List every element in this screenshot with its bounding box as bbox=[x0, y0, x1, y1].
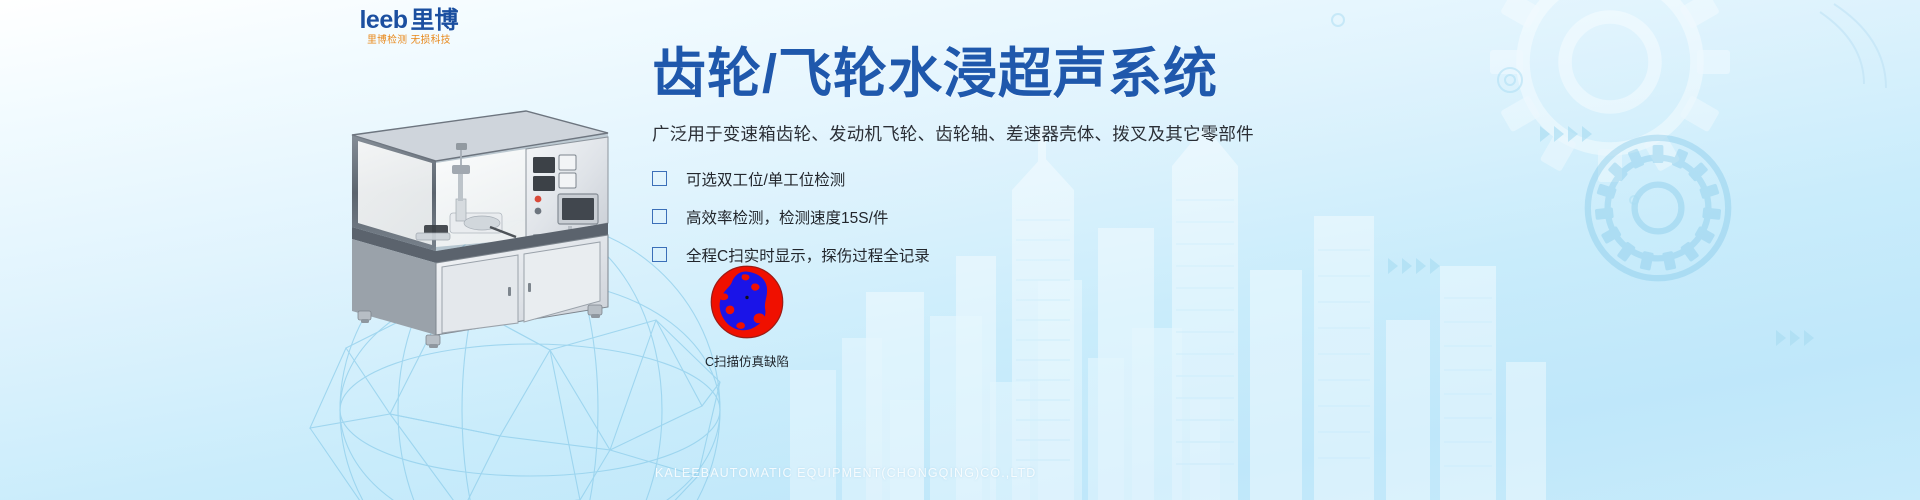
cscan-defect-image bbox=[709, 264, 785, 340]
feature-label: 全程C扫实时显示，探伤过程全记录 bbox=[686, 244, 930, 266]
feature-item: 可选双工位/单工位检测 bbox=[652, 168, 1272, 190]
gear-outline-small-icon bbox=[1568, 118, 1748, 298]
feature-item: 全程C扫实时显示，探伤过程全记录 bbox=[652, 244, 1272, 266]
logo-chinese-text: 里博 bbox=[411, 7, 459, 34]
hero-subtitle: 广泛用于变速箱齿轮、发动机飞轮、齿轮轴、差速器壳体、拨叉及其它零部件 bbox=[652, 121, 1272, 146]
tech-accent-graphic bbox=[1220, 0, 1920, 500]
feature-item: 高效率检测，检测速度15S/件 bbox=[652, 206, 1272, 228]
logo-tagline: 里博检测 无损科技 bbox=[347, 36, 472, 46]
logo-latin-text: leeb bbox=[359, 6, 407, 34]
feature-label: 高效率检测，检测速度15S/件 bbox=[686, 206, 888, 228]
product-hero-banner: leeb里博 里博检测 无损科技 bbox=[0, 0, 1920, 500]
feature-label: 可选双工位/单工位检测 bbox=[686, 168, 845, 190]
checkbox-icon bbox=[652, 171, 667, 186]
cscan-figure: C扫描仿真缺陷 bbox=[672, 264, 822, 370]
hero-content: 齿轮/飞轮水浸超声系统 广泛用于变速箱齿轮、发动机飞轮、齿轮轴、差速器壳体、拨叉… bbox=[652, 46, 1272, 282]
checkbox-icon bbox=[652, 247, 667, 262]
checkbox-icon bbox=[652, 209, 667, 224]
product-machine-image bbox=[330, 95, 610, 350]
company-name-footer: KALEEBAUTOMATIC EQUIPMENT(CHONGQING)CO.,… bbox=[655, 466, 1036, 480]
gear-outline-icon bbox=[1460, 0, 1760, 212]
company-logo[interactable]: leeb里博 里博检测 无损科技 bbox=[344, 8, 474, 46]
page-title: 齿轮/飞轮水浸超声系统 bbox=[652, 46, 1272, 103]
logo-wordmark: leeb里博 bbox=[344, 8, 474, 33]
cscan-caption: C扫描仿真缺陷 bbox=[672, 351, 822, 370]
feature-list: 可选双工位/单工位检测 高效率检测，检测速度15S/件 全程C扫实时显示，探伤过… bbox=[652, 168, 1272, 266]
